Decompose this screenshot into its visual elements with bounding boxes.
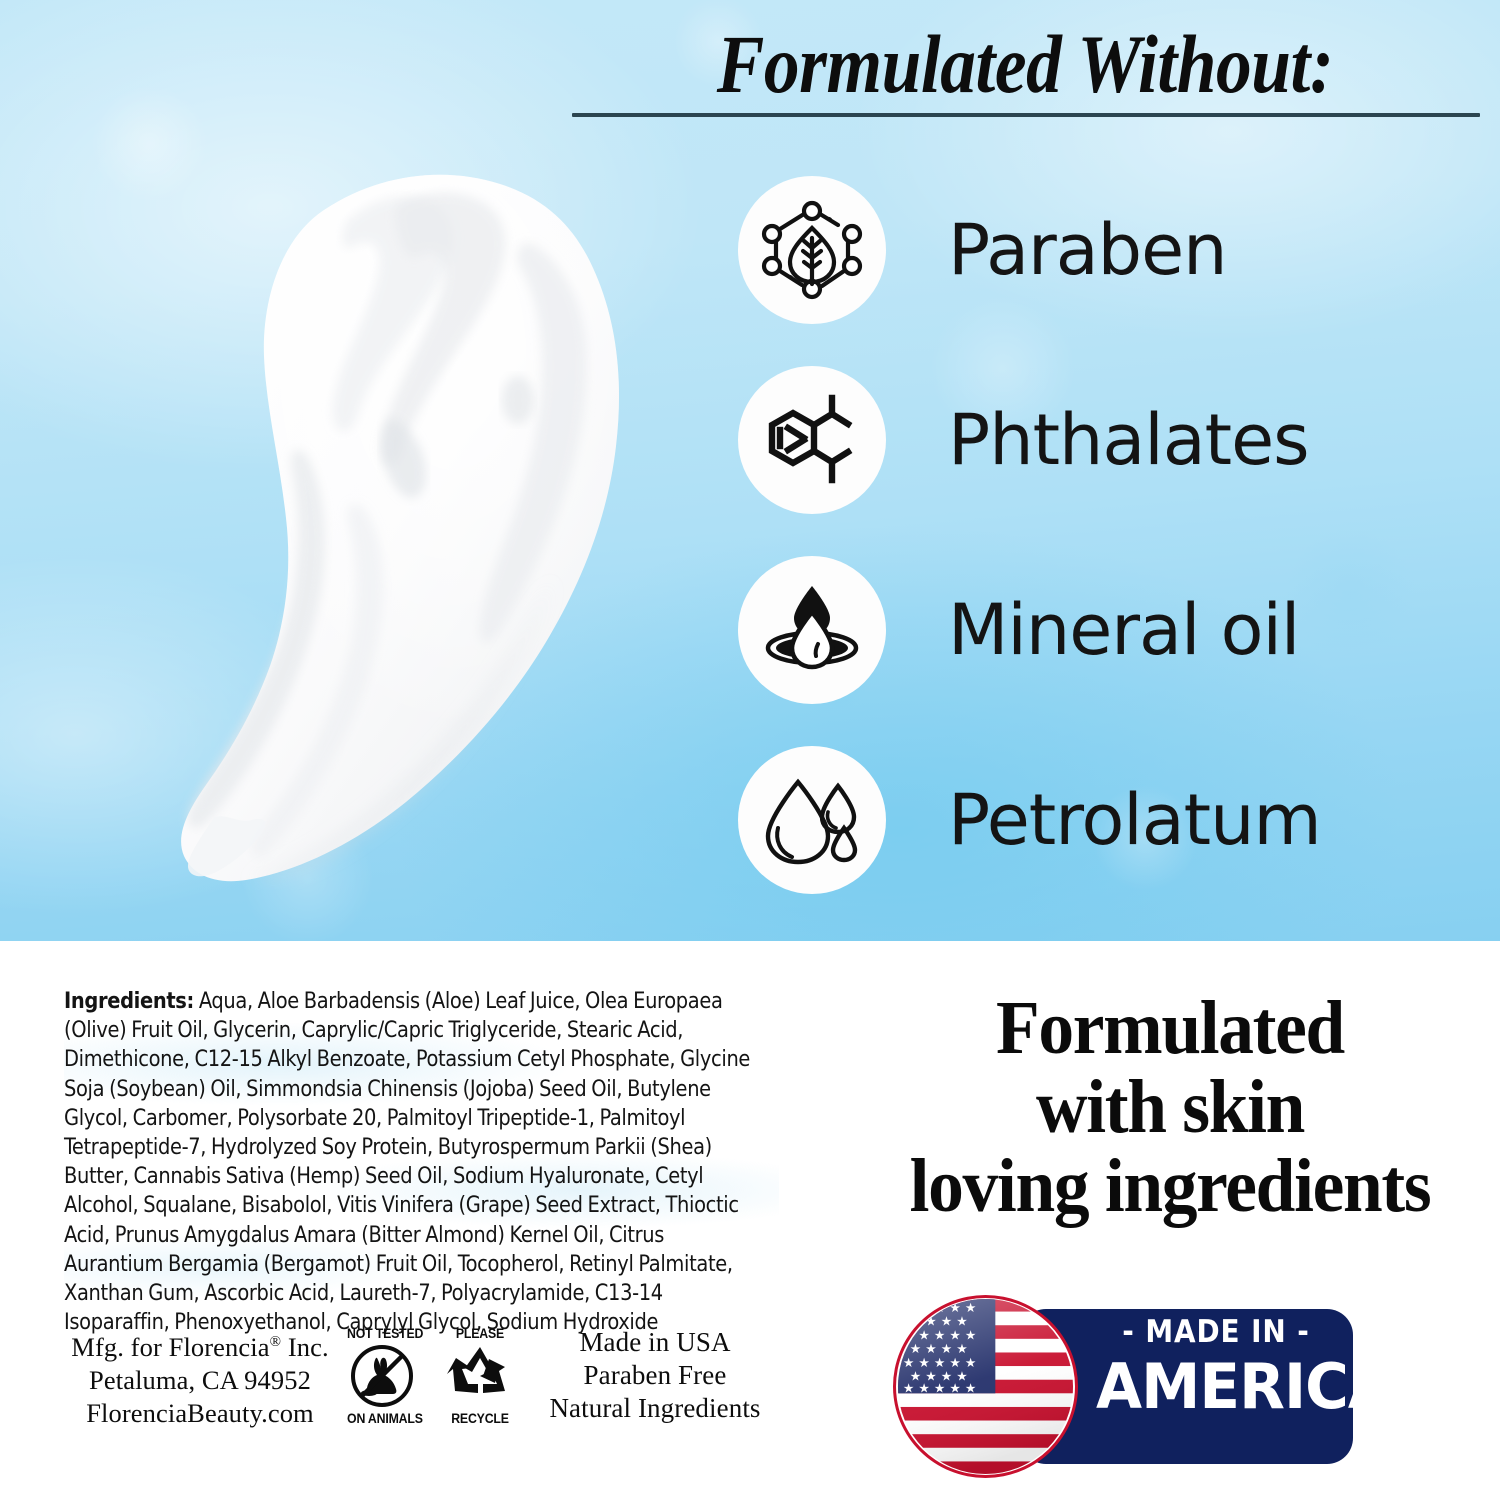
badge-america-label: AMERICA: [1096, 1356, 1336, 1418]
claim-row-mineral-oil: Mineral oil: [738, 535, 1468, 725]
cert-please-recycle: PLEASE RECYCLE: [442, 1327, 518, 1426]
water-droplets-icon: [738, 746, 886, 894]
infographic-page: Formulated Without:: [0, 0, 1500, 1500]
formulated-line3: loving ingredients: [910, 1144, 1431, 1228]
mfg-line1-tail: Inc.: [281, 1332, 329, 1362]
cert-caption-top: PLEASE: [445, 1327, 515, 1340]
ingredients-block: Ingredients: Aqua, Aloe Barbadensis (Alo…: [64, 987, 779, 1337]
cream-swatch: [96, 150, 716, 890]
badge-made-in-label: - MADE IN -: [1104, 1317, 1329, 1348]
claim-row-phthalates: Phthalates: [738, 345, 1468, 535]
made-in-america-badge: ★ ★ ★ ★ ★ ★ ★ ★ ★ ★ ★ ★ ★ ★ ★ ★ ★ ★ ★ ★ …: [893, 1295, 1353, 1478]
oil-drop-puddle-icon: [738, 556, 886, 704]
mfg-website[interactable]: FlorenciaBeauty.com: [86, 1398, 314, 1428]
cert-caption-top: NOT TESTED: [347, 1327, 417, 1340]
cert-caption-bottom: ON ANIMALS: [347, 1412, 417, 1425]
ingredients-text: Ingredients: Aqua, Aloe Barbadensis (Alo…: [64, 987, 754, 1337]
recycle-icon: [447, 1343, 513, 1409]
page-title-wrap: Formulated Without:: [570, 22, 1480, 107]
no-animal-testing-icon: [349, 1343, 415, 1409]
registered-mark: ®: [270, 1334, 282, 1350]
formulated-line2: with skin: [1036, 1065, 1304, 1149]
page-title: Formulated Without:: [634, 22, 1417, 107]
top-blue-panel: Formulated Without:: [0, 0, 1500, 941]
ingredients-heading: Ingredients:: [64, 988, 194, 1014]
usa-claim-line1: Made in USA: [579, 1327, 730, 1357]
claim-label-paraben: Paraben: [948, 215, 1227, 285]
formulated-with-heading: Formulated with skin loving ingredients: [879, 989, 1462, 1226]
claim-row-petrolatum: Petrolatum: [738, 725, 1468, 915]
formulated-line1: Formulated: [996, 986, 1344, 1070]
molecule-leaf-icon: [738, 176, 886, 324]
usa-claim-line3: Natural Ingredients: [549, 1393, 760, 1423]
cert-caption-bottom: RECYCLE: [445, 1412, 515, 1425]
badge-text: - MADE IN - AMERICA: [1091, 1317, 1341, 1418]
manufacturer-info: Mfg. for Florencia® Inc. Petaluma, CA 94…: [64, 1326, 336, 1430]
usa-claims: Made in USA Paraben Free Natural Ingredi…: [526, 1326, 784, 1425]
usa-flag-circle-icon: ★ ★ ★ ★ ★ ★ ★ ★ ★ ★ ★ ★ ★ ★ ★ ★ ★ ★ ★ ★ …: [893, 1295, 1078, 1478]
title-underline-rule: [572, 113, 1480, 117]
claim-label-petrolatum: Petrolatum: [948, 785, 1321, 855]
usa-claim-line2: Paraben Free: [584, 1360, 727, 1390]
claims-list: Paraben: [738, 155, 1468, 915]
ingredients-body: Aqua, Aloe Barbadensis (Aloe) Leaf Juice…: [64, 988, 750, 1335]
cert-not-tested-on-animals: NOT TESTED ON ANIMALS: [344, 1327, 420, 1426]
mfg-line1: Mfg. for Florencia: [71, 1332, 269, 1362]
mfg-line2: Petaluma, CA 94952: [89, 1365, 311, 1395]
claim-label-mineral-oil: Mineral oil: [948, 595, 1299, 665]
footer-row: Mfg. for Florencia® Inc. Petaluma, CA 94…: [64, 1326, 784, 1430]
claim-label-phthalates: Phthalates: [948, 405, 1309, 475]
claim-row-paraben: Paraben: [738, 155, 1468, 345]
certification-icons: NOT TESTED ON ANIMALS PLEASE: [336, 1326, 526, 1426]
benzene-ring-icon: [738, 366, 886, 514]
